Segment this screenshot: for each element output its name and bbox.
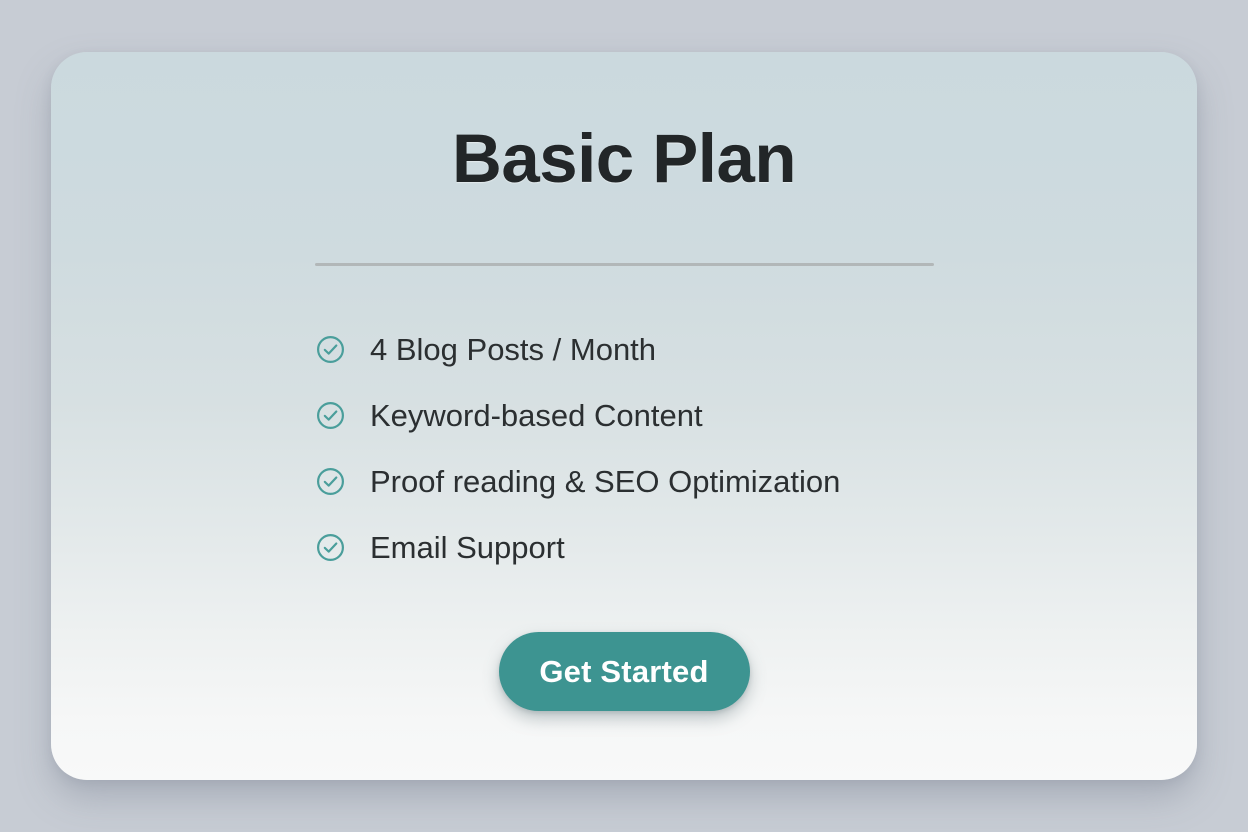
list-item: Email Support xyxy=(315,514,840,580)
check-circle-icon xyxy=(315,334,346,365)
feature-label: 4 Blog Posts / Month xyxy=(370,334,656,365)
pricing-card-body: Basic Plan 4 Blog Posts / Month xyxy=(51,52,1197,780)
get-started-button[interactable]: Get Started xyxy=(499,632,750,711)
check-circle-icon xyxy=(315,532,346,563)
feature-label: Keyword-based Content xyxy=(370,400,703,431)
page-background: Basic Plan 4 Blog Posts / Month xyxy=(0,0,1248,832)
feature-label: Email Support xyxy=(370,532,565,563)
list-item: Proof reading & SEO Optimization xyxy=(315,448,840,514)
cta-container: Get Started xyxy=(51,632,1197,711)
title-divider xyxy=(315,263,934,266)
check-circle-icon xyxy=(315,466,346,497)
list-item: 4 Blog Posts / Month xyxy=(315,316,840,382)
page-title: Basic Plan xyxy=(51,124,1197,193)
feature-label: Proof reading & SEO Optimization xyxy=(370,466,840,497)
list-item: Keyword-based Content xyxy=(315,382,840,448)
pricing-card: Basic Plan 4 Blog Posts / Month xyxy=(51,52,1197,780)
check-circle-icon xyxy=(315,400,346,431)
feature-list: 4 Blog Posts / Month Keyword-based Conte… xyxy=(315,316,840,580)
